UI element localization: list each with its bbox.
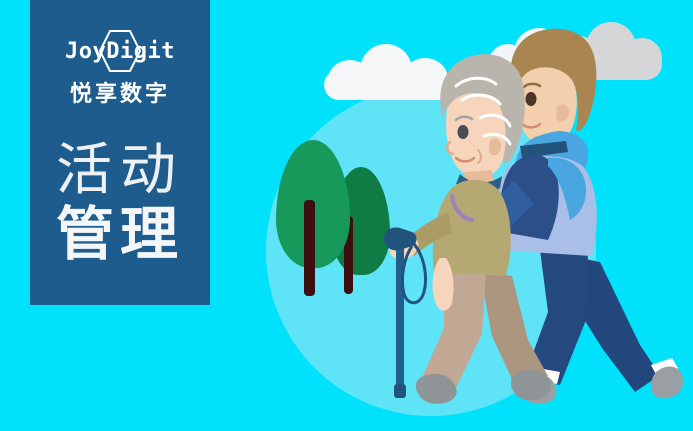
brand-chinese-name: 悦享数字 [30,80,210,110]
cane-tip [394,384,406,398]
page-title-line-2: 管理 [30,202,210,266]
title-panel: JoyDigit 悦享数字 活动 管理 [30,0,210,305]
brand-logo: JoyDigit 悦享数字 [30,30,210,110]
page-title: 活动 管理 [30,140,210,266]
man-eye [526,92,537,106]
brand-wordmark: JoyDigit [65,30,175,74]
page-title-line-1: 活动 [30,140,210,202]
poster-canvas: JoyDigit 悦享数字 活动 管理 [0,0,693,431]
woman-eye [458,125,469,139]
woman-back-leg [480,272,548,388]
